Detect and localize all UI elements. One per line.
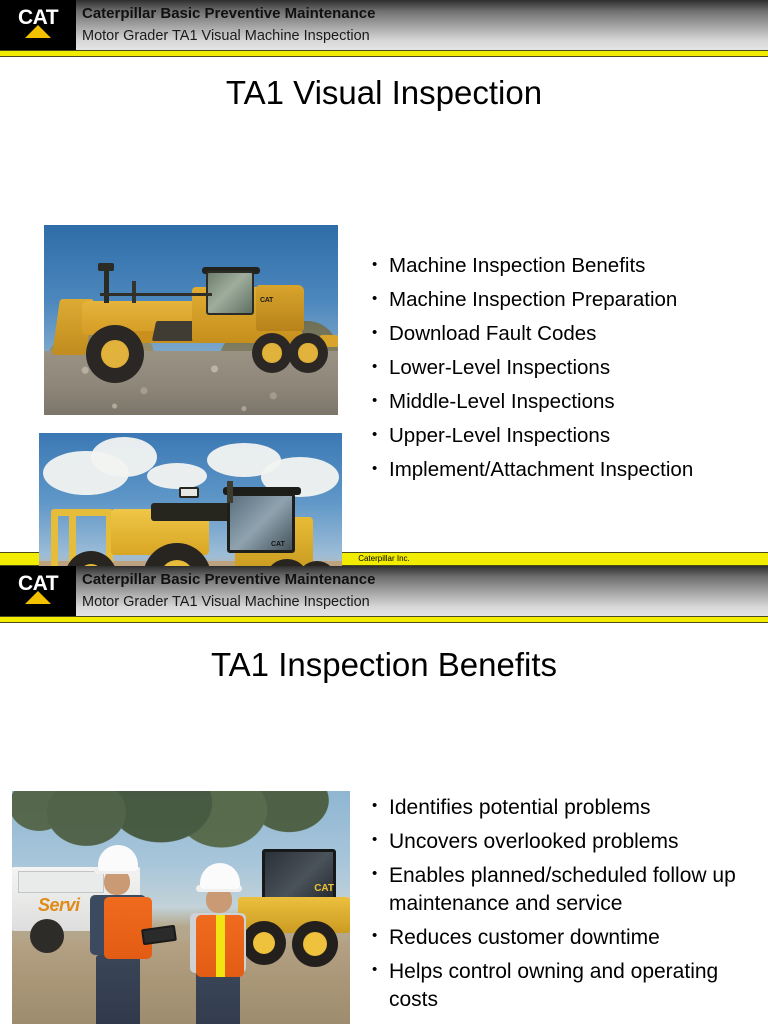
slide-bullet-list: Machine Inspection Benefits Machine Insp…: [372, 253, 744, 491]
header-subtitle: Motor Grader TA1 Visual Machine Inspecti…: [82, 591, 682, 613]
slide-bullet-list: Identifies potential problems Uncovers o…: [372, 794, 754, 1020]
list-item: Helps control owning and operating costs: [372, 958, 754, 1014]
presentation-page: CAT Caterpillar Basic Preventive Mainten…: [0, 0, 768, 1024]
list-item: Identifies potential problems: [372, 794, 754, 822]
cat-decal: CAT: [314, 883, 334, 894]
header-text-block: Caterpillar Basic Preventive Maintenance…: [82, 568, 682, 613]
cat-decal: CAT: [260, 297, 273, 304]
header-title: Caterpillar Basic Preventive Maintenance: [82, 2, 682, 25]
cat-triangle-icon: [25, 591, 51, 604]
list-item: Lower-Level Inspections: [372, 355, 744, 380]
list-item: Implement/Attachment Inspection: [372, 457, 744, 482]
cat-logo: CAT: [0, 0, 76, 50]
list-item: Download Fault Codes: [372, 321, 744, 346]
list-item: Reduces customer downtime: [372, 924, 754, 952]
cat-triangle-icon: [25, 25, 51, 38]
slide-title: TA1 Visual Inspection: [0, 57, 768, 113]
technicians-inspection-photo: CAT Servi: [12, 791, 350, 1024]
list-item: Machine Inspection Benefits: [372, 253, 744, 278]
slide-header: CAT Caterpillar Basic Preventive Mainten…: [0, 566, 768, 616]
header-subtitle: Motor Grader TA1 Visual Machine Inspecti…: [82, 25, 682, 47]
list-item: Machine Inspection Preparation: [372, 287, 744, 312]
list-item: Middle-Level Inspections: [372, 389, 744, 414]
slide-header: CAT Caterpillar Basic Preventive Mainten…: [0, 0, 768, 50]
slide-ta1-visual-inspection: CAT Caterpillar Basic Preventive Mainten…: [0, 0, 768, 552]
motor-grader-gravel-photo: CAT: [44, 225, 338, 415]
cat-logo: CAT: [0, 566, 76, 616]
list-item: Uncovers overlooked problems: [372, 828, 754, 856]
header-title: Caterpillar Basic Preventive Maintenance: [82, 568, 682, 591]
header-yellow-rule: [0, 50, 768, 57]
slide-ta1-inspection-benefits: CAT Caterpillar Basic Preventive Mainten…: [0, 566, 768, 1024]
list-item: Upper-Level Inspections: [372, 423, 744, 448]
slide-title: TA1 Inspection Benefits: [0, 623, 768, 685]
header-yellow-rule: [0, 616, 768, 623]
service-truck-decal: Servi: [38, 895, 80, 916]
footer-copyright: Caterpillar Inc.: [358, 554, 410, 564]
cat-decal: CAT: [271, 541, 285, 548]
header-text-block: Caterpillar Basic Preventive Maintenance…: [82, 2, 682, 47]
list-item: Enables planned/scheduled follow up main…: [372, 862, 754, 918]
